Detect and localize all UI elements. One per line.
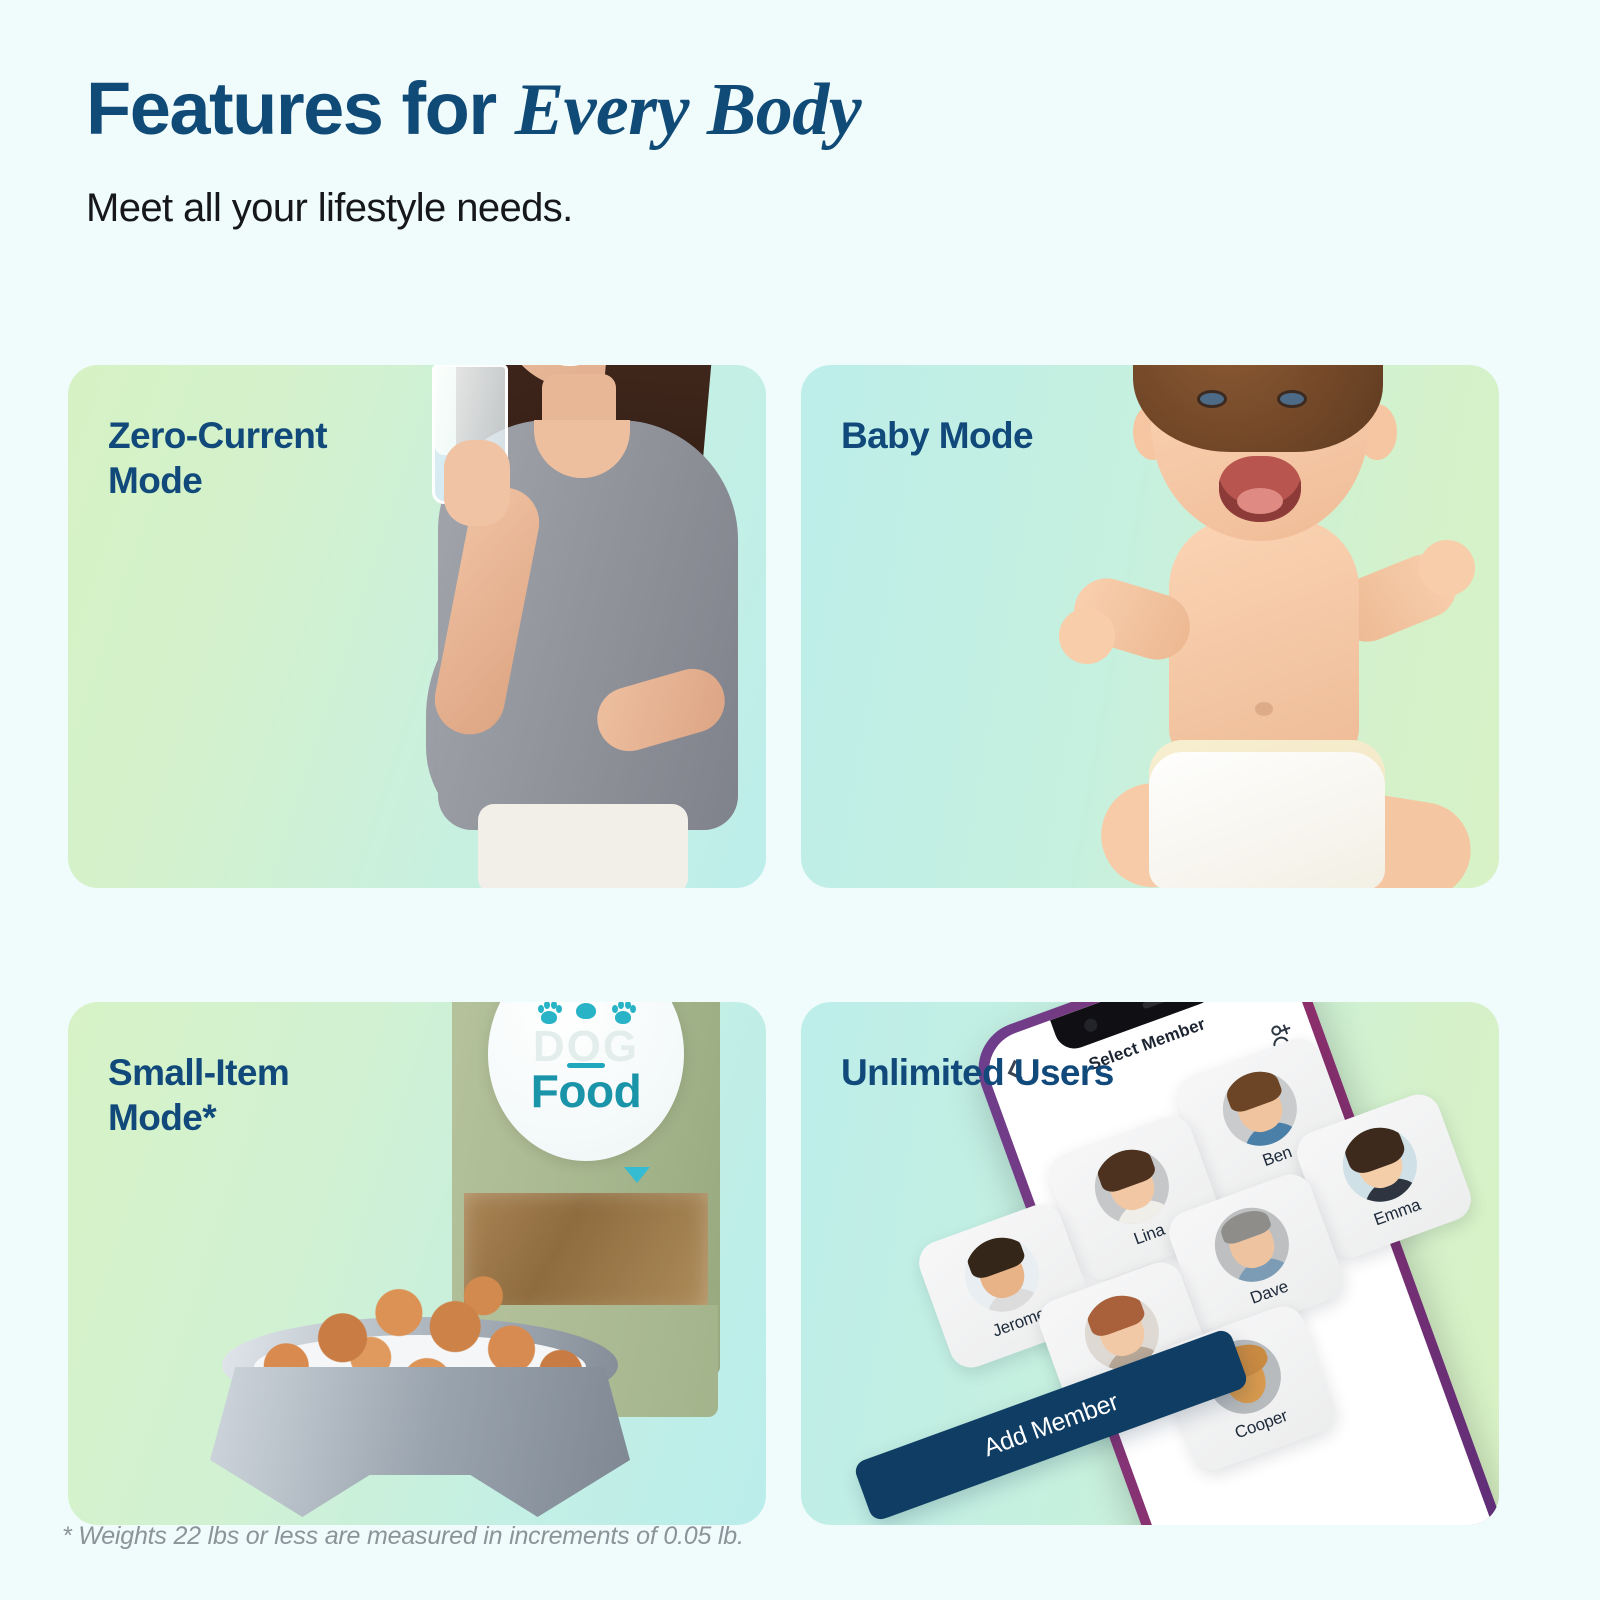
- dog-bowl: [210, 1267, 630, 1517]
- member-name: Ben: [1260, 1142, 1295, 1171]
- feature-card-small-item-mode[interactable]: Small-Item Mode* DOG Food: [68, 1002, 766, 1525]
- feature-card-baby-mode[interactable]: Baby Mode: [801, 365, 1499, 888]
- avatar: [1212, 1061, 1307, 1156]
- page-subtitle: Meet all your lifestyle needs.: [86, 186, 1486, 231]
- footnote: * Weights 22 lbs or less are measured in…: [62, 1522, 744, 1551]
- feature-card-zero-current-mode[interactable]: Zero-Current Mode: [68, 365, 766, 888]
- dog-food-brand: DOG: [533, 1026, 639, 1068]
- feature-card-grid: Zero-Current Mode: [68, 365, 1534, 1485]
- page-header: Features for Every Body Meet all your li…: [86, 70, 1486, 231]
- avatar: [1084, 1139, 1179, 1234]
- page-title-emphasis: Every Body: [515, 69, 861, 151]
- card-title: Baby Mode: [841, 413, 1033, 458]
- paw-print-icons: [537, 1002, 635, 1024]
- triangle-icon: [624, 1167, 650, 1183]
- card-title: Unlimited Users: [841, 1050, 1114, 1095]
- card-title: Small-Item Mode*: [108, 1050, 289, 1140]
- page-title-lead: Features for: [86, 67, 515, 150]
- dog-food-product: Food: [531, 1068, 641, 1114]
- feature-card-unlimited-users[interactable]: Unlimited Users Select Member: [801, 1002, 1499, 1525]
- avatar: [1204, 1197, 1299, 1292]
- card-title: Zero-Current Mode: [108, 413, 327, 503]
- page-title: Features for Every Body: [86, 70, 1486, 150]
